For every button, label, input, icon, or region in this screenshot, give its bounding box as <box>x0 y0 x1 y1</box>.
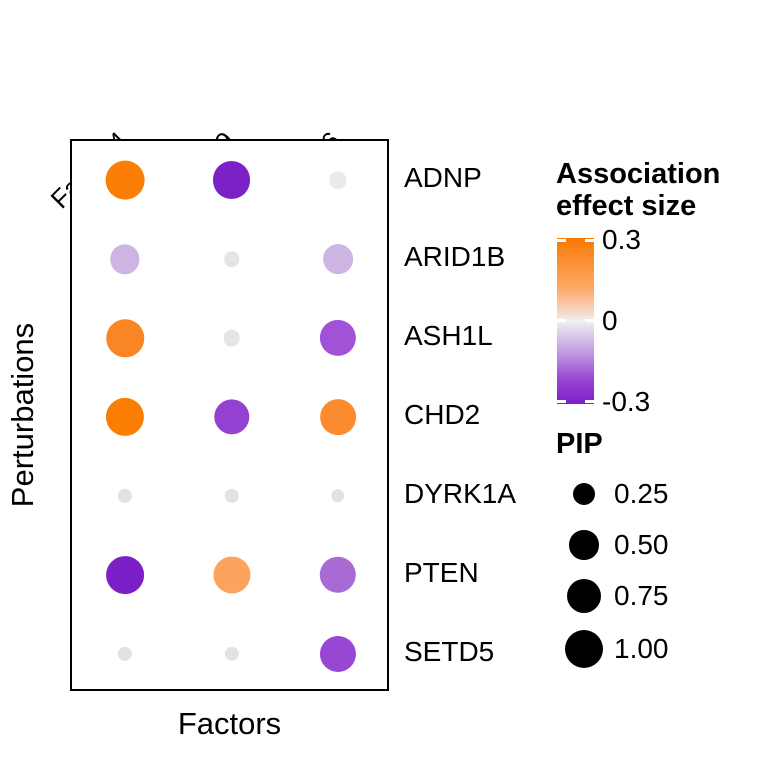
x-axis-title: Factors <box>70 706 389 742</box>
dot-ash1l-factor-4[interactable] <box>106 319 143 356</box>
plot-panel <box>70 139 389 691</box>
size-legend-dot-shape <box>567 579 601 613</box>
dot-ash1l-factor-9[interactable] <box>223 330 240 347</box>
size-legend-label-1.00: 1.00 <box>614 633 669 665</box>
colorbar-tick-mid-left <box>557 319 566 322</box>
colorbar-label-0: 0.3 <box>602 224 641 256</box>
dot-chd2-factor-16[interactable] <box>320 399 356 435</box>
dot-adnp-factor-16[interactable] <box>329 172 347 190</box>
dot-ash1l-factor-16[interactable] <box>320 320 356 356</box>
size-legend-label-0.75: 0.75 <box>614 580 669 612</box>
dot-arid1b-factor-16[interactable] <box>323 244 353 274</box>
row-label-setd5: SETD5 <box>404 636 494 668</box>
row-label-chd2: CHD2 <box>404 399 480 431</box>
size-legend-dot-0.75 <box>560 572 608 620</box>
size-legend-dot-0.25 <box>560 470 608 518</box>
dot-arid1b-factor-4[interactable] <box>111 245 140 274</box>
dot-setd5-factor-9[interactable] <box>224 646 238 660</box>
dot-arid1b-factor-9[interactable] <box>224 252 240 268</box>
color-legend-title-line1: Association <box>556 158 766 190</box>
dot-pten-factor-4[interactable] <box>106 556 144 594</box>
row-label-adnp: ADNP <box>404 162 482 194</box>
row-label-ash1l: ASH1L <box>404 320 493 352</box>
colorbar-label-1: 0 <box>602 305 618 337</box>
size-legend-label-0.25: 0.25 <box>614 478 669 510</box>
color-legend-gradient-bar <box>557 238 594 404</box>
dotplot-figure: Perturbations Factor 4Factor 9Factor 16 … <box>0 0 768 768</box>
colorbar-label-2: -0.3 <box>602 386 650 418</box>
row-label-dyrk1a: DYRK1A <box>404 478 516 510</box>
size-legend-label-0.50: 0.50 <box>614 529 669 561</box>
dot-dyrk1a-factor-9[interactable] <box>224 489 238 503</box>
dot-adnp-factor-4[interactable] <box>106 161 145 200</box>
dot-setd5-factor-4[interactable] <box>118 646 132 660</box>
size-legend-dot-0.50 <box>560 521 608 569</box>
dot-chd2-factor-4[interactable] <box>106 398 144 436</box>
row-label-arid1b: ARID1B <box>404 241 505 273</box>
size-legend-dot-shape <box>569 530 598 559</box>
dot-pten-factor-9[interactable] <box>213 556 250 593</box>
dot-setd5-factor-16[interactable] <box>320 636 356 672</box>
dot-dyrk1a-factor-16[interactable] <box>331 489 345 503</box>
color-legend-title-line2: effect size <box>556 190 766 222</box>
colorbar-tick-top-left <box>557 239 566 242</box>
colorbar-tick-top-right <box>585 239 594 242</box>
colorbar-tick-bottom-left <box>557 400 566 403</box>
size-legend-title: PIP <box>556 428 603 461</box>
dot-dyrk1a-factor-4[interactable] <box>118 489 132 503</box>
row-label-pten: PTEN <box>404 557 479 589</box>
dot-adnp-factor-9[interactable] <box>213 161 251 199</box>
size-legend-dot-shape <box>573 483 596 506</box>
colorbar-tick-bottom-right <box>585 400 594 403</box>
size-legend-dot-shape <box>565 630 604 669</box>
dot-pten-factor-16[interactable] <box>320 556 356 592</box>
size-legend-dot-1.00 <box>560 625 608 673</box>
color-legend-title: Association effect size <box>556 158 766 223</box>
dot-chd2-factor-9[interactable] <box>214 399 249 434</box>
colorbar-tick-mid-right <box>585 319 594 322</box>
